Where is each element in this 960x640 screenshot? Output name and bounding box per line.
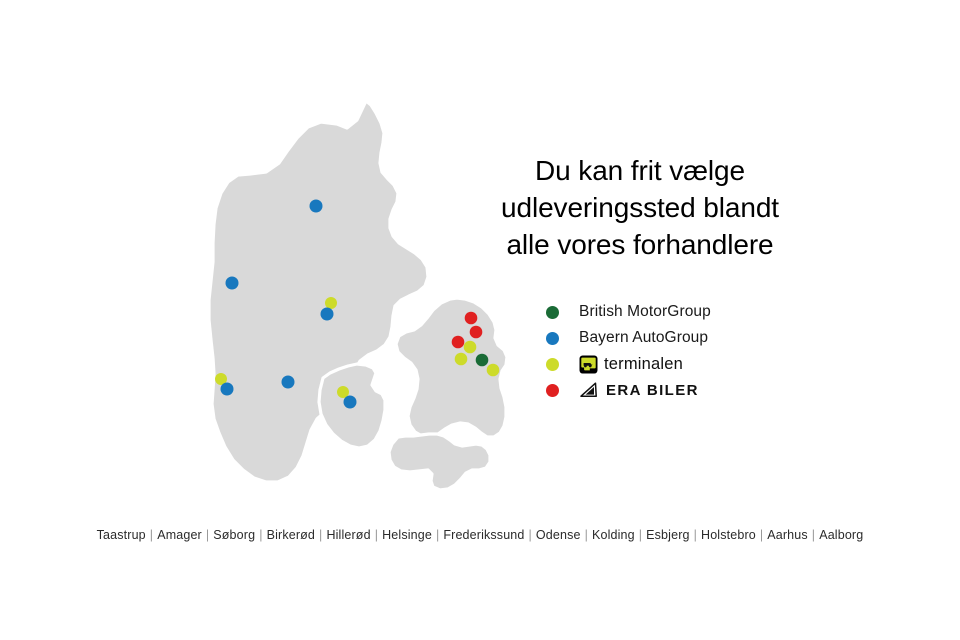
legend-label-bayern-autogroup: Bayern AutoGroup (579, 329, 708, 347)
marker-amager[interactable] (487, 364, 500, 377)
city-separator: | (690, 528, 701, 542)
legend-item-terminalen[interactable]: terminalen (546, 351, 846, 377)
dot-yellow-icon (546, 358, 559, 371)
city-item: Holstebro (701, 528, 756, 542)
legend-item-british-motorgroup[interactable]: British MotorGroup (546, 299, 846, 325)
era-biler-logo: ERA BILER (579, 382, 699, 399)
city-item: Hillerød (326, 528, 370, 542)
city-item: Søborg (213, 528, 255, 542)
city-item: Taastrup (97, 528, 146, 542)
dot-green-icon (546, 306, 559, 319)
marker-aarhus-bayern[interactable] (321, 308, 334, 321)
city-item: Aalborg (819, 528, 863, 542)
city-separator: | (371, 528, 382, 542)
marker-frederikssund[interactable] (452, 336, 465, 349)
marker-soborg[interactable] (476, 354, 489, 367)
denmark-map (160, 80, 540, 510)
city-separator: | (315, 528, 326, 542)
headline-line-1: Du kan frit vælge (455, 152, 825, 189)
city-separator: | (146, 528, 157, 542)
era-biler-triangle-icon (579, 382, 600, 399)
marker-helsinge[interactable] (465, 312, 478, 325)
legend-item-bayern-autogroup[interactable]: Bayern AutoGroup (546, 325, 846, 351)
marker-birkerod[interactable] (464, 341, 477, 354)
city-separator: | (581, 528, 592, 542)
marker-holstebro[interactable] (226, 277, 239, 290)
city-list: Taastrup|Amager|Søborg|Birkerød|Hillerød… (0, 528, 960, 542)
marker-hillerod[interactable] (470, 326, 483, 339)
city-separator: | (808, 528, 819, 542)
headline-line-2: udleveringssted blandt (455, 189, 825, 226)
dealer-legend: British MotorGroup Bayern AutoGroup term… (546, 299, 846, 403)
city-separator: | (756, 528, 767, 542)
headline: Du kan frit vælge udleveringssted blandt… (455, 152, 825, 264)
terminalen-logo: terminalen (579, 355, 683, 374)
marker-kolding[interactable] (282, 376, 295, 389)
city-separator: | (525, 528, 536, 542)
marker-esbjerg-bayern[interactable] (221, 383, 234, 396)
city-item: Kolding (592, 528, 635, 542)
city-item: Esbjerg (646, 528, 689, 542)
legend-label-terminalen: terminalen (604, 355, 683, 374)
city-separator: | (255, 528, 266, 542)
city-item: Helsinge (382, 528, 432, 542)
marker-aarhus-terminalen[interactable] (325, 297, 337, 309)
city-item: Frederikssund (443, 528, 524, 542)
city-item: Odense (536, 528, 581, 542)
legend-item-era-biler[interactable]: ERA BILER (546, 377, 846, 403)
city-item: Aarhus (767, 528, 808, 542)
headline-line-3: alle vores forhandlere (455, 226, 825, 263)
map-svg (160, 80, 540, 510)
city-item: Amager (157, 528, 202, 542)
page-root: Du kan frit vælge udleveringssted blandt… (0, 0, 960, 640)
terminalen-logo-icon (579, 355, 598, 374)
marker-taastrup[interactable] (455, 353, 468, 366)
landmass-jutland (209, 101, 428, 482)
legend-label-british-motorgroup: British MotorGroup (579, 303, 711, 321)
marker-aalborg[interactable] (310, 200, 323, 213)
legend-label-era-biler: ERA BILER (606, 382, 699, 399)
landmass-lolland-falster (389, 434, 490, 490)
city-separator: | (432, 528, 443, 542)
dot-red-icon (546, 384, 559, 397)
city-separator: | (635, 528, 646, 542)
city-separator: | (202, 528, 213, 542)
marker-odense-bayern[interactable] (344, 396, 357, 409)
city-item: Birkerød (267, 528, 315, 542)
dot-blue-icon (546, 332, 559, 345)
